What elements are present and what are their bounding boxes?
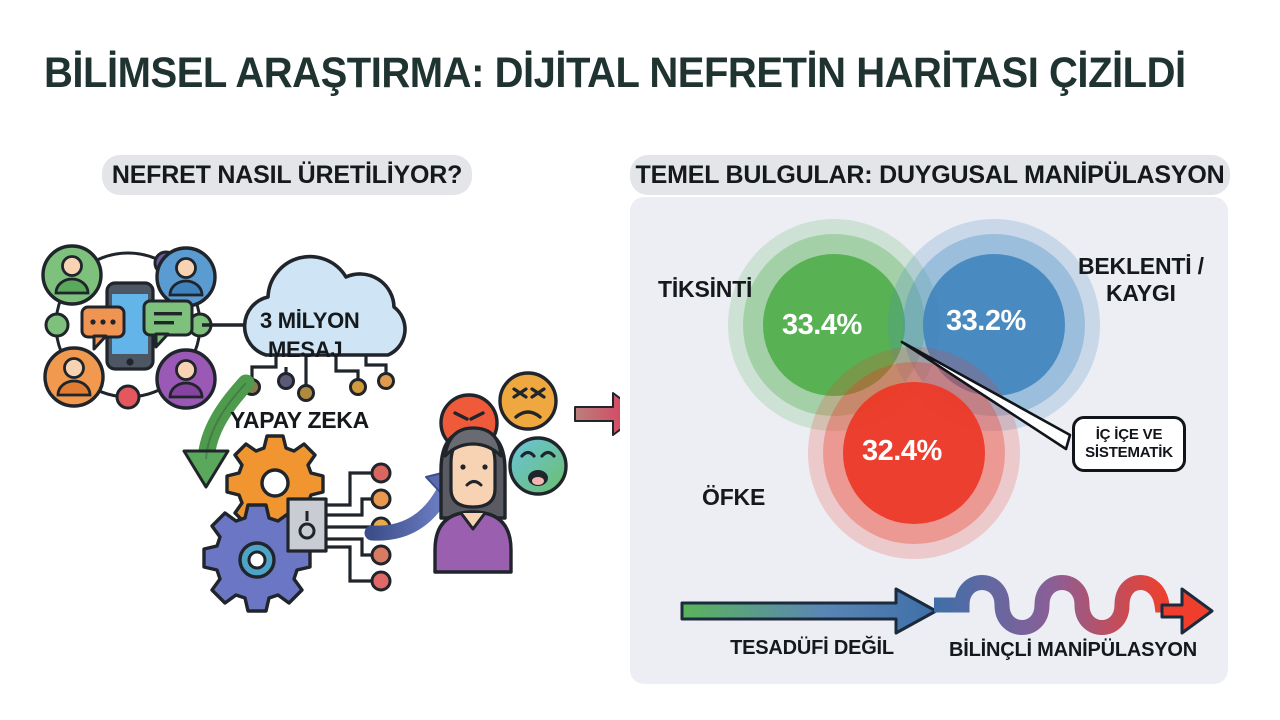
network-node-green-left-icon bbox=[46, 314, 68, 336]
avatar-green-icon bbox=[43, 246, 101, 304]
section-header-left: NEFRET NASIL ÜRETİLİYOR? bbox=[102, 155, 472, 195]
page-title: BİLİMSEL ARAŞTIRMA: DİJİTAL NEFRETİN HAR… bbox=[44, 47, 1160, 99]
venn-label-beklenti-kaygi: BEKLENTİ / KAYGI bbox=[1078, 253, 1204, 307]
wavy-arrow-block: BİLİNÇLİ MANİPÜLASYON bbox=[930, 565, 1216, 677]
avatar-orange-icon bbox=[45, 348, 103, 406]
hate-production-illustration: 3 MİLYON MESAJ YAPAY ZEKA bbox=[20, 215, 620, 615]
venn-diagram: 33.4% 33.2% 32.4% TİKSİNTİ BEKLENTİ / KA… bbox=[630, 197, 1228, 597]
venn-label-beklenti-line2: KAYGI bbox=[1078, 280, 1204, 307]
gradient-arrow-right-icon bbox=[575, 393, 620, 435]
venn-label-ofke: ÖFKE bbox=[702, 484, 765, 511]
wavy-arrow-icon bbox=[930, 565, 1216, 639]
section-header-right-label: TEMEL BULGULAR: DUYGUSAL MANİPÜLASYON bbox=[636, 161, 1225, 190]
chip-branch-lines-icon bbox=[326, 473, 372, 581]
circuit-node-dots-icon bbox=[245, 374, 394, 401]
section-header-right: TEMEL BULGULAR: DUYGUSAL MANİPÜLASYON bbox=[630, 155, 1230, 195]
venn-label-tiksinti: TİKSİNTİ bbox=[658, 276, 752, 303]
cloud-label-line2: MESAJ bbox=[268, 337, 342, 363]
venn-percent-blue: 33.2% bbox=[946, 305, 1026, 338]
network-node-red-icon bbox=[117, 386, 139, 408]
disgusted-face-green-icon bbox=[510, 438, 566, 494]
straight-arrow-block: TESADÜFİ DEĞİL bbox=[678, 585, 946, 677]
sad-woman-icon bbox=[435, 428, 511, 572]
findings-panel: 33.4% 33.2% 32.4% TİKSİNTİ BEKLENTİ / KA… bbox=[630, 197, 1228, 684]
callout-line1: İÇ İÇE VE bbox=[1096, 426, 1163, 444]
straight-arrow-caption: TESADÜFİ DEĞİL bbox=[678, 637, 946, 660]
ai-label: YAPAY ZEKA bbox=[230, 407, 369, 434]
chip-icon bbox=[288, 499, 326, 551]
social-network-icon bbox=[43, 246, 256, 408]
callout-line2: SİSTEMATİK bbox=[1085, 444, 1173, 462]
avatar-purple-icon bbox=[157, 350, 215, 408]
straight-arrow-icon bbox=[678, 585, 946, 637]
avatar-blue-icon bbox=[157, 248, 215, 306]
frustrated-face-orange-icon bbox=[500, 373, 556, 429]
callout-ic-ice-sistematik: İÇ İÇE VE SİSTEMATİK bbox=[1072, 416, 1186, 472]
venn-label-beklenti-line1: BEKLENTİ / bbox=[1078, 253, 1204, 280]
venn-percent-green: 33.4% bbox=[782, 309, 862, 342]
wavy-arrow-caption: BİLİNÇLİ MANİPÜLASYON bbox=[930, 639, 1216, 662]
venn-percent-red: 32.4% bbox=[862, 435, 942, 468]
section-header-left-label: NEFRET NASIL ÜRETİLİYOR? bbox=[112, 161, 462, 190]
infographic-canvas: BİLİMSEL ARAŞTIRMA: DİJİTAL NEFRETİN HAR… bbox=[0, 0, 1280, 720]
cloud-label-line1: 3 MİLYON bbox=[260, 308, 359, 334]
